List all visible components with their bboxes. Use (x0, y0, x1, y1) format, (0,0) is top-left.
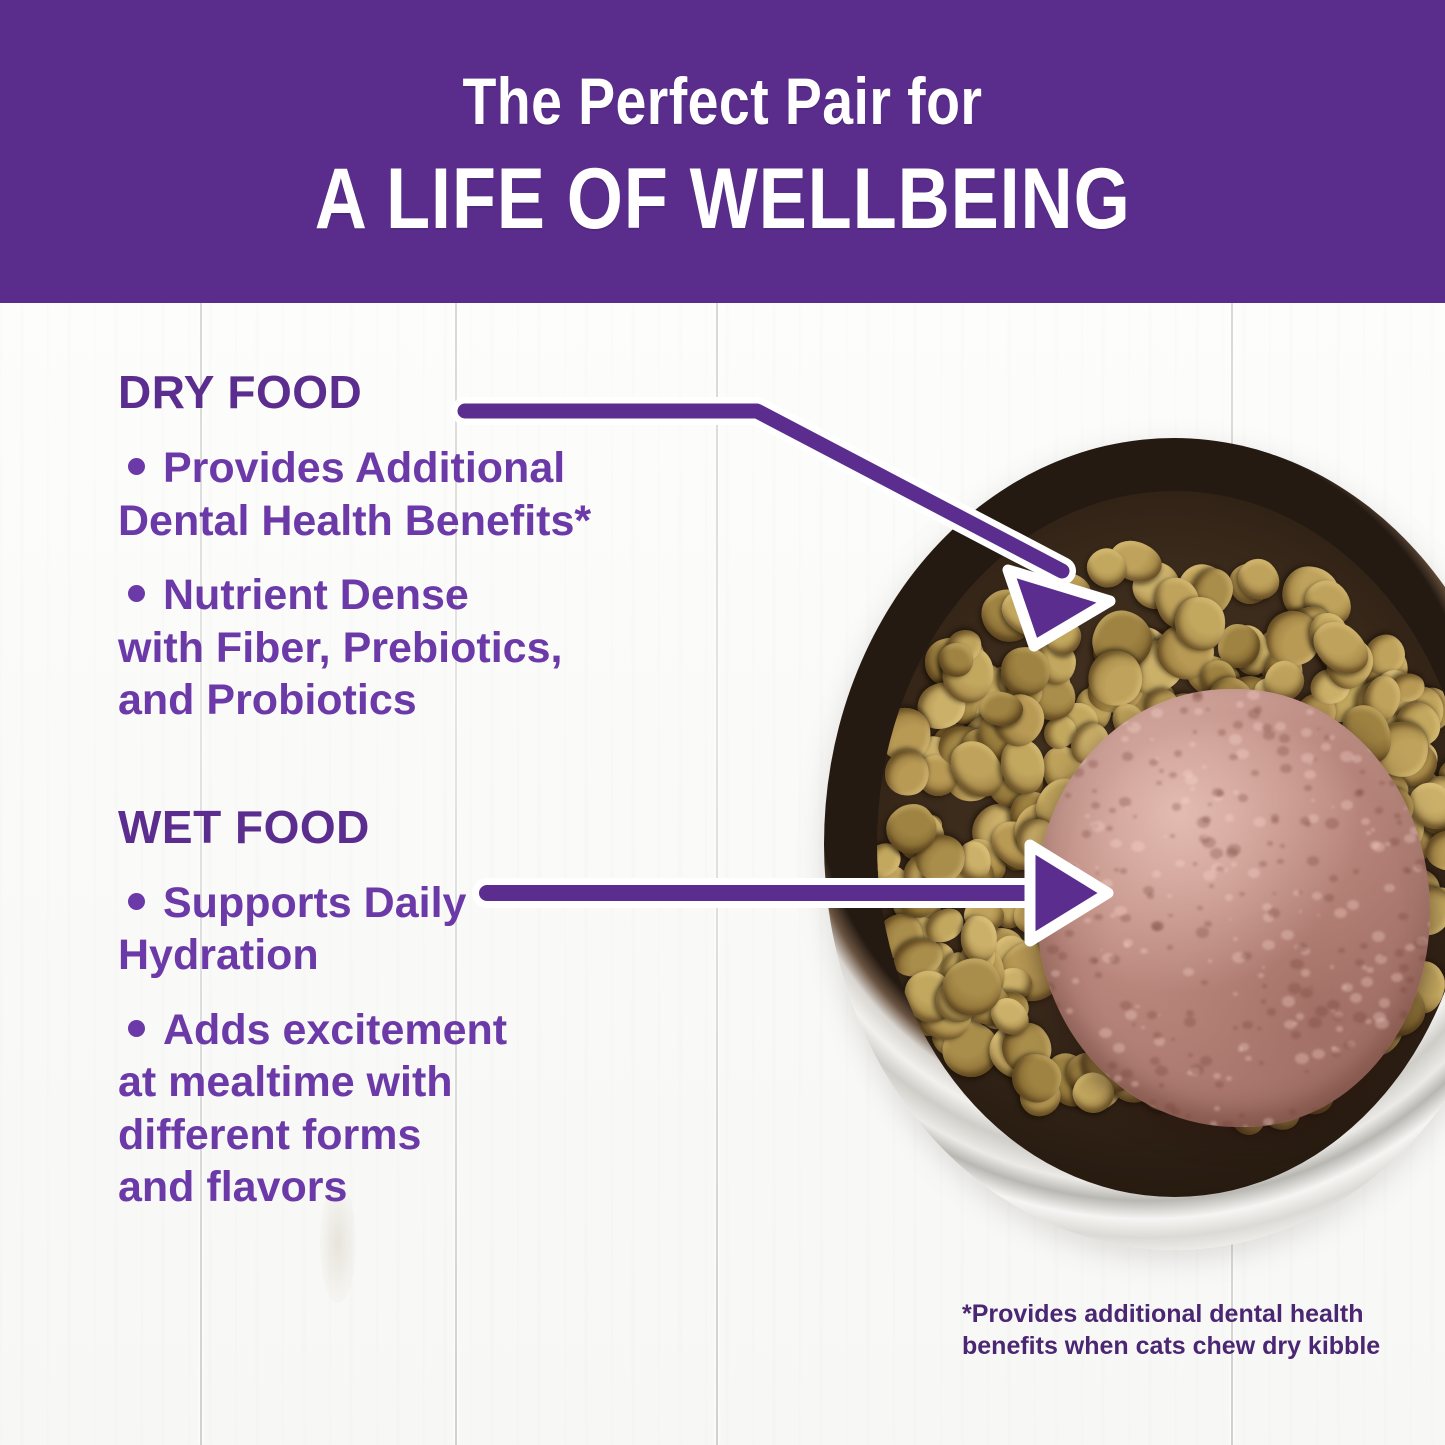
pate-speckle (1426, 1085, 1430, 1088)
bullet-text-line: Supports Daily (163, 879, 466, 927)
pate-speckle (1057, 924, 1060, 927)
pate-speckle (1360, 770, 1365, 774)
pate-speckle (1122, 752, 1132, 760)
pate-speckle (1345, 1102, 1357, 1112)
pate-speckle (1125, 1010, 1137, 1020)
pate-speckle (1218, 729, 1226, 735)
pate-speckle (1327, 1000, 1341, 1011)
pate-texture (1037, 689, 1430, 1127)
pate-speckle (1399, 964, 1409, 972)
pate-speckle (1113, 1043, 1125, 1053)
pate-speckle (1236, 701, 1245, 708)
bullet-text-line: with Fiber, Prebiotics, (118, 624, 562, 672)
pate-speckle (1084, 918, 1091, 924)
pate-speckle (1397, 820, 1403, 825)
pate-speckle (1150, 1057, 1160, 1065)
pate-speckle (1333, 1014, 1343, 1022)
pate-speckle (1327, 1102, 1332, 1106)
pate-speckle (1267, 1008, 1276, 1015)
pate-speckle (1188, 1053, 1193, 1057)
pate-speckle (1372, 931, 1385, 941)
pate-speckle (1404, 807, 1408, 810)
pate-speckle (1262, 984, 1267, 988)
pate-speckle (1080, 1116, 1089, 1123)
pate-speckle (1277, 746, 1289, 755)
pate-speckle (1233, 937, 1239, 941)
pate-speckle (1305, 1070, 1308, 1073)
section-spacer (118, 749, 778, 803)
pate-speckle (1209, 884, 1214, 888)
pate-speckle (1379, 998, 1391, 1007)
pate-speckle (1262, 966, 1266, 969)
pate-speckle (1152, 870, 1161, 877)
pate-speckle (1293, 1022, 1298, 1026)
pate-speckle (1259, 861, 1267, 867)
pate-speckle (1273, 892, 1276, 895)
pate-speckle (1301, 753, 1314, 763)
pate-speckle (1353, 1012, 1366, 1023)
pate-speckle (1186, 1010, 1194, 1017)
pate-speckle (1403, 867, 1410, 872)
pate-speckle (1317, 914, 1320, 917)
pate-speckle (1242, 1021, 1252, 1029)
pate-speckle (1394, 813, 1401, 819)
pate-speckle (1389, 780, 1396, 785)
pate-speckle (1082, 830, 1091, 837)
pate-speckle (1304, 785, 1311, 791)
pate-speckle (1175, 860, 1185, 868)
pate-speckle (1396, 1068, 1403, 1073)
pate-speckle (1066, 1008, 1073, 1013)
header-title-line1: The Perfect Pair for (463, 68, 983, 134)
pate-speckle (1254, 706, 1262, 712)
pate-speckle (1068, 1112, 1077, 1119)
pate-speckle (1408, 1126, 1414, 1127)
bullet-dot-icon (128, 458, 145, 475)
bowl-interior (877, 491, 1445, 1197)
pate-speckle (1208, 959, 1213, 963)
pate-speckle (1114, 868, 1119, 872)
pate-speckle (1181, 797, 1190, 804)
pate-speckle (1304, 770, 1316, 779)
pate-speckle (1295, 1053, 1309, 1064)
pate-speckle (1093, 959, 1098, 963)
pate-speckle (1238, 1047, 1243, 1051)
pate-speckle (1248, 868, 1261, 878)
pate-speckle (1258, 973, 1264, 978)
bullet-text-line: Hydration (118, 931, 319, 979)
pate-speckle (1416, 727, 1426, 735)
pate-speckle (1140, 1114, 1145, 1118)
bullet-dot-icon (128, 1020, 145, 1037)
pate-speckle (1226, 1076, 1232, 1081)
pate-speckle (1108, 1062, 1117, 1069)
pate-speckle (1329, 735, 1335, 740)
pate-speckle (1047, 945, 1058, 954)
pate-speckle (1366, 831, 1371, 835)
pate-speckle (1362, 716, 1376, 727)
bullet-text-line: Nutrient Dense (163, 571, 469, 619)
pate-speckle (1306, 709, 1314, 715)
pate-speckle (1096, 872, 1099, 875)
pate-speckle (1133, 815, 1137, 818)
pate-speckle (1280, 844, 1285, 848)
pate-speckle (1405, 944, 1415, 952)
pate-speckle (1262, 940, 1275, 950)
pate-speckle (1419, 815, 1430, 825)
pate-speckle (1417, 1028, 1429, 1038)
footnote-line2: benefits when cats chew dry kibble (962, 1330, 1382, 1362)
pate-speckle (1213, 1073, 1220, 1079)
pate-speckle (1100, 949, 1103, 951)
pate-speckle (1071, 895, 1082, 904)
pate-speckle (1185, 775, 1198, 786)
pate-speckle (1239, 1113, 1246, 1118)
bullet-list-dry-food: Provides AdditionalDental Health Benefit… (118, 442, 778, 726)
pate-speckle (1101, 1074, 1109, 1081)
pate-speckle (1225, 894, 1233, 901)
pate-speckle (1196, 927, 1209, 938)
pate-speckle (1247, 690, 1260, 700)
pate-speckle (1190, 1064, 1204, 1075)
pate-speckle (1233, 721, 1243, 729)
pate-speckle (1226, 848, 1239, 858)
pate-speckle (1315, 1006, 1328, 1017)
pate-speckle (1072, 978, 1079, 984)
pate-speckle (1231, 862, 1237, 867)
pate-speckle (1321, 743, 1330, 750)
pate-speckle (1245, 1056, 1252, 1061)
pate-speckle (1214, 1106, 1220, 1111)
pate-speckle (1190, 787, 1195, 791)
footnote-line1: *Provides additional dental health (962, 1298, 1382, 1330)
pate-speckle (1110, 839, 1122, 848)
pate-speckle (1356, 1083, 1365, 1090)
pate-speckle (1180, 707, 1189, 714)
pate-speckle (1155, 1066, 1168, 1076)
bullet-text-line: and flavors (118, 1163, 347, 1211)
pate-speckle (1404, 834, 1416, 843)
pate-speckle (1099, 1028, 1112, 1039)
pate-speckle (1131, 841, 1145, 852)
pate-speckle (1379, 781, 1385, 786)
pate-speckle (1131, 1081, 1139, 1087)
pate-speckle (1334, 908, 1347, 918)
pate-speckle (1329, 875, 1338, 882)
pate-speckle (1150, 738, 1154, 741)
pate-speckle (1361, 977, 1373, 987)
pate-speckle (1350, 993, 1362, 1003)
pate-speckle (1280, 764, 1292, 774)
pate-speckle (1092, 789, 1097, 793)
pate-speckle (1197, 906, 1202, 910)
pate-speckle (1414, 938, 1427, 949)
pate-speckle (1238, 794, 1248, 802)
pate-speckle (1103, 1117, 1112, 1124)
pate-speckle (1147, 1011, 1156, 1019)
pate-speckle (1174, 750, 1183, 757)
wet-pate-mound (1037, 689, 1430, 1127)
pate-speckle (1098, 692, 1107, 700)
pate-speckle (1123, 939, 1133, 947)
pate-speckle (1129, 724, 1132, 726)
pate-speckle (1088, 760, 1097, 767)
pate-speckle (1210, 848, 1223, 858)
pate-speckle (1119, 797, 1131, 807)
pate-speckle (1371, 828, 1376, 832)
pate-speckle (1341, 800, 1354, 810)
pate-speckle (1038, 1041, 1050, 1050)
pate-speckle (1383, 1048, 1396, 1059)
pate-speckle (1172, 803, 1182, 811)
pate-speckle (1169, 772, 1177, 778)
pate-speckle (1051, 970, 1059, 977)
pate-speckle (1170, 834, 1175, 838)
footnote: *Provides additional dental health benef… (962, 1298, 1382, 1362)
pate-speckle (1366, 967, 1373, 973)
pate-speckle (1092, 821, 1105, 832)
pate-speckle (1263, 730, 1275, 740)
bullet-text-line: and Probiotics (118, 676, 417, 724)
pate-speckle (1189, 742, 1195, 747)
pate-speckle (1095, 866, 1099, 869)
pate-speckle (1109, 808, 1115, 813)
pate-speckle (1291, 1031, 1301, 1039)
pate-speckle (1155, 757, 1159, 760)
pate-speckle (1060, 769, 1069, 776)
pate-speckle (1202, 765, 1207, 769)
pate-speckle (1325, 818, 1339, 829)
pate-speckle (1277, 859, 1284, 864)
section-dry-food: DRY FOOD Provides AdditionalDental Healt… (118, 368, 778, 727)
pate-speckle (1307, 856, 1319, 866)
pate-speckle (1340, 751, 1354, 762)
pate-speckle (1094, 914, 1102, 921)
pate-speckle (1224, 868, 1228, 871)
pate-speckle (1135, 1005, 1140, 1009)
pate-speckle (1091, 802, 1100, 809)
pate-speckle (1210, 1121, 1217, 1127)
pate-speckle (1299, 910, 1302, 913)
benefits-copy-column: DRY FOOD Provides AdditionalDental Healt… (118, 368, 778, 1236)
pate-speckle (1368, 746, 1376, 753)
pate-speckle (1419, 1071, 1430, 1080)
section-wet-food: WET FOOD Supports DailyHydration Adds ex… (118, 803, 778, 1214)
bullet-item: Adds excitementat mealtime withdifferent… (118, 1004, 778, 1214)
pate-speckle (1229, 918, 1233, 921)
pate-speckle (1202, 837, 1216, 848)
pate-speckle (1073, 768, 1084, 777)
pate-speckle (1120, 868, 1127, 874)
bullet-text-line: Provides Additional (163, 444, 565, 492)
pate-speckle (1106, 826, 1113, 832)
pate-speckle (1332, 1051, 1339, 1057)
pate-speckle (1344, 1042, 1354, 1050)
pate-speckle (1415, 859, 1428, 869)
pate-speckle (1312, 1049, 1325, 1059)
pate-speckle (1392, 769, 1397, 773)
section-title-wet-food: WET FOOD (118, 803, 778, 851)
pate-speckle (1044, 1065, 1051, 1071)
pate-speckle (1407, 789, 1420, 800)
bullet-item: Nutrient Densewith Fiber, Prebiotics,and… (118, 569, 778, 726)
pate-speckle (1336, 1026, 1343, 1032)
pate-speckle (1357, 789, 1363, 794)
pate-speckle (1153, 1113, 1156, 1116)
pate-speckle (1385, 842, 1391, 847)
pate-speckle (1360, 943, 1368, 949)
pate-speckle (1204, 921, 1212, 927)
pate-speckle (1314, 758, 1317, 761)
bullet-item: Supports DailyHydration (118, 877, 778, 982)
pate-speckle (1331, 806, 1334, 809)
pate-speckle (1216, 866, 1223, 872)
pate-speckle (1065, 793, 1071, 798)
pate-speckle (1257, 1027, 1262, 1031)
pate-speckle (1406, 977, 1415, 984)
pate-speckle (1171, 1038, 1175, 1041)
pate-speckle (1384, 884, 1395, 893)
pate-speckle (1403, 708, 1411, 714)
pate-speckle (1409, 1052, 1413, 1056)
pate-speckle (1140, 948, 1148, 954)
pate-speckle (1338, 948, 1345, 954)
pate-speckle (1229, 734, 1242, 744)
pate-speckle (1052, 874, 1059, 880)
pate-speckle (1109, 955, 1120, 964)
bullet-item: Provides AdditionalDental Health Benefit… (118, 442, 778, 547)
pate-speckle (1296, 1013, 1304, 1020)
pate-speckle (1167, 945, 1173, 949)
pate-speckle (1289, 1109, 1296, 1115)
pate-speckle (1262, 724, 1272, 732)
pate-speckle (1290, 959, 1303, 970)
bullet-dot-icon (128, 893, 145, 910)
pate-speckle (1259, 1061, 1264, 1065)
product-benefits-poster: The Perfect Pair for A LIFE OF WELLBEING… (0, 0, 1445, 1445)
pate-speckle (1051, 1002, 1060, 1009)
pate-speckle (1233, 1026, 1238, 1030)
steel-bowl (824, 438, 1445, 1250)
bowl-photo (824, 438, 1445, 1258)
pate-speckle (1362, 965, 1368, 970)
pate-speckle (1401, 1091, 1404, 1094)
pate-speckle (1341, 983, 1353, 992)
pate-speckle (1261, 999, 1266, 1003)
pate-speckle (1282, 996, 1295, 1007)
pate-speckle (1400, 987, 1407, 993)
pate-speckle (1419, 955, 1426, 961)
pate-speckle (1049, 1035, 1059, 1043)
pate-speckle (1251, 770, 1259, 777)
pate-speckle (1183, 968, 1193, 976)
pate-speckle (1281, 930, 1294, 940)
pate-speckle (1243, 1125, 1248, 1127)
pate-speckle (1391, 1113, 1404, 1123)
pate-speckle (1428, 922, 1430, 926)
pate-speckle (1058, 952, 1067, 959)
pate-speckle (1151, 1100, 1155, 1103)
pate-speckle (1395, 949, 1405, 957)
pate-speckle (1193, 730, 1197, 733)
pate-speckle (1208, 803, 1211, 806)
pate-speckle (1391, 973, 1403, 982)
pate-speckle (1330, 965, 1334, 969)
pate-speckle (1361, 818, 1370, 825)
pate-speckle (1225, 814, 1234, 822)
pate-speckle (1085, 814, 1091, 818)
bullet-text-line: Adds excitement (163, 1006, 507, 1054)
pate-speckle (1409, 1003, 1412, 1005)
pate-speckle (1159, 1083, 1164, 1087)
pate-speckle (1236, 749, 1249, 759)
pate-speckle (1301, 728, 1312, 737)
pate-speckle (1095, 972, 1102, 977)
pate-speckle (1193, 862, 1198, 866)
pate-speckle (1201, 980, 1208, 985)
pate-speckle (1184, 1017, 1196, 1026)
header-title-line2: A LIFE OF WELLBEING (315, 156, 1131, 242)
pate-speckle (1215, 1081, 1224, 1089)
pate-speckle (1272, 1122, 1283, 1126)
pate-speckle (1097, 1081, 1102, 1085)
pate-speckle (1398, 913, 1407, 920)
pate-speckle (1194, 708, 1203, 715)
bullet-list-wet-food: Supports DailyHydration Adds excitementa… (118, 877, 778, 1214)
pate-speckle (1164, 835, 1167, 838)
pate-speckle (1412, 1108, 1421, 1115)
pate-speckle (1253, 817, 1266, 827)
pate-speckle (1074, 755, 1086, 765)
pate-speckle (1347, 900, 1359, 910)
pate-speckle (1186, 1114, 1191, 1118)
pate-speckle (1311, 799, 1315, 802)
pate-speckle (1308, 1017, 1321, 1028)
pate-speckle (1317, 728, 1320, 730)
pate-speckle (1239, 892, 1245, 896)
pate-speckle (1040, 902, 1047, 908)
pate-speckle (1375, 807, 1384, 814)
pate-speckle (1055, 1061, 1059, 1064)
pate-speckle (1065, 930, 1073, 937)
pate-speckle (1159, 769, 1164, 773)
pate-speckle (1400, 1011, 1409, 1018)
pate-speckle (1362, 691, 1368, 696)
pate-speckle (1233, 992, 1238, 996)
pate-speckle (1141, 1026, 1144, 1029)
pate-speckle (1353, 869, 1359, 874)
pate-speckle (1279, 734, 1290, 743)
pate-speckle (1427, 986, 1429, 990)
pate-speckle (1192, 693, 1203, 702)
pate-speckle (1267, 841, 1273, 846)
pate-speckle (1233, 790, 1239, 795)
pate-speckle (1101, 879, 1112, 888)
pate-speckle (1288, 983, 1301, 994)
pate-speckle (1147, 893, 1154, 898)
pate-speckle (1167, 894, 1172, 898)
pate-speckle (1300, 988, 1313, 998)
bullet-text-line: Dental Health Benefits* (118, 497, 591, 545)
pate-speckle (1241, 952, 1251, 960)
pate-speckle (1168, 914, 1173, 918)
pate-speckle (1132, 1023, 1136, 1026)
pate-speckle (1372, 842, 1385, 852)
pate-speckle (1375, 1018, 1389, 1029)
pate-speckle (1268, 908, 1280, 918)
pate-speckle (1206, 708, 1210, 712)
pate-speckle (1120, 1001, 1131, 1010)
